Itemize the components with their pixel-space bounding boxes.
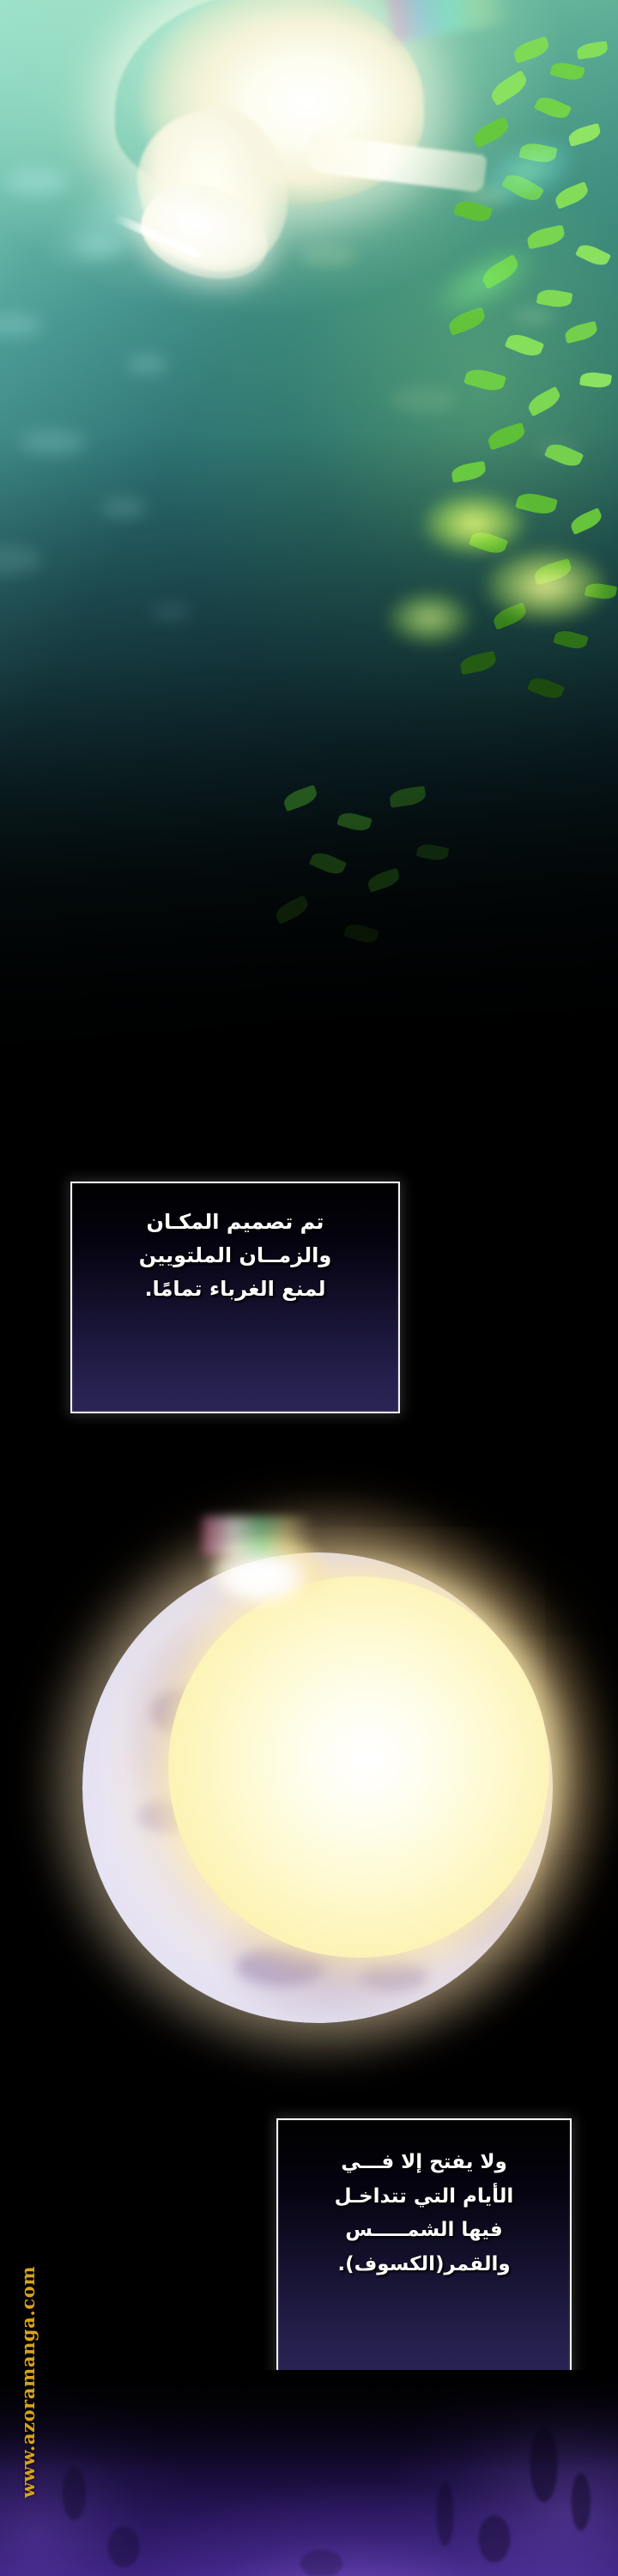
prism-flare-icon (203, 1516, 312, 1556)
canopy-silhouette-right (257, 52, 618, 653)
caption-line: تم تصميم المكـان (72, 1206, 398, 1239)
rainbow-prism-flare-icon (386, 0, 514, 43)
site-watermark: www.azoramanga.com (16, 2283, 40, 2498)
caption-line: ولا يفتح إلا فـــي (278, 2146, 570, 2180)
webtoon-page: تم تصميم المكـان والزمــان الملتويين لمن… (0, 0, 618, 2576)
caption-line: فيها الشمـــــس (278, 2214, 570, 2248)
caption-line: الأيام التي تتداخـل (278, 2180, 570, 2215)
caption-line: والزمــان الملتويين (72, 1239, 398, 1273)
foliage-cluster-lower (249, 773, 489, 1065)
panel-bottom-purple-scene (0, 2370, 618, 2576)
bottom-scene-texture (0, 2370, 618, 2576)
caption-line: لمنع الغرباء تمامًا. (72, 1273, 398, 1306)
panel-eclipse-scene (0, 1443, 618, 2164)
caption-box-2: ولا يفتح إلا فـــي الأيام التي تتداخـل ف… (276, 2118, 572, 2381)
sun-disk (168, 1577, 549, 1958)
caption-box-1: تم تصميم المكـان والزمــان الملتويين لمن… (70, 1182, 400, 1413)
caption-line: والقمر(الكسوف). (278, 2248, 570, 2282)
panel-forest-scene (0, 0, 618, 1133)
